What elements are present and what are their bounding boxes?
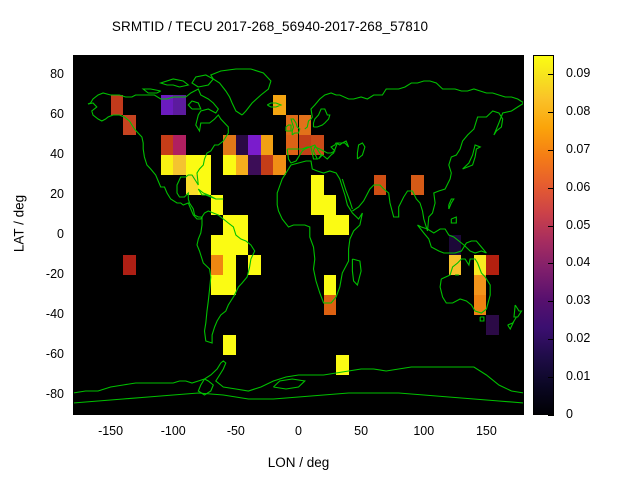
- coastline-overlay: [73, 55, 524, 415]
- coastline-path: [188, 101, 201, 109]
- y-tick-label: -40: [10, 307, 64, 321]
- coastline-path: [418, 225, 487, 253]
- colorbar-tick-label: 0.05: [566, 218, 590, 232]
- coastline-path: [291, 119, 300, 135]
- coastline-path: [273, 379, 304, 389]
- x-tick-mark: [236, 409, 237, 415]
- coastline-path: [73, 393, 524, 403]
- coastline-path: [463, 145, 481, 169]
- y-tick-mark: [73, 275, 79, 276]
- x-tick-mark: [111, 409, 112, 415]
- coastline-path: [192, 75, 213, 87]
- coastline-path: [451, 217, 456, 223]
- coastline-path: [440, 259, 490, 313]
- figure-root: SRMTID / TECU 2017-268_56940-2017-268_57…: [0, 0, 640, 480]
- colorbar-tick-label: 0: [566, 407, 573, 421]
- colorbar-tick-mark: [548, 188, 554, 189]
- colorbar-tick-mark: [548, 415, 554, 416]
- coastline-path: [88, 89, 228, 217]
- y-tick-label: -20: [10, 267, 64, 281]
- y-tick-label: 60: [10, 107, 64, 121]
- y-tick-mark: [73, 395, 79, 396]
- y-axis-label: LAT / deg: [12, 179, 27, 269]
- y-tick-mark: [73, 315, 79, 316]
- coastline-path: [286, 125, 291, 131]
- coastline-path: [287, 141, 348, 163]
- x-tick-mark: [361, 409, 362, 415]
- x-tick-label: 50: [331, 424, 391, 438]
- y-tick-label: -60: [10, 347, 64, 361]
- coastline-path: [480, 317, 484, 321]
- coastline-path: [314, 109, 330, 127]
- coastline-path: [352, 259, 361, 285]
- coastline-path: [88, 103, 202, 219]
- coastline-path: [305, 81, 524, 129]
- coastline-path: [352, 103, 524, 231]
- colorbar-tick-label: 0.01: [566, 369, 590, 383]
- coastline-path: [198, 189, 223, 199]
- y-tick-mark: [73, 355, 79, 356]
- y-tick-mark: [73, 195, 79, 196]
- colorbar-tick-mark: [548, 150, 554, 151]
- colorbar-tick-label: 0.06: [566, 180, 590, 194]
- colorbar-tick-label: 0.02: [566, 331, 590, 345]
- x-tick-mark: [486, 409, 487, 415]
- x-tick-mark: [299, 409, 300, 415]
- page-title: SRMTID / TECU 2017-268_56940-2017-268_57…: [0, 19, 540, 34]
- colorbar-tick-mark: [548, 377, 554, 378]
- x-tick-label: -100: [143, 424, 203, 438]
- x-tick-label: 150: [456, 424, 516, 438]
- y-tick-mark: [73, 75, 79, 76]
- coastline-path: [449, 199, 454, 209]
- colorbar-tick-label: 0.03: [566, 293, 590, 307]
- colorbar-tick-label: 0.07: [566, 142, 590, 156]
- x-tick-mark: [424, 409, 425, 415]
- x-tick-label: -150: [81, 424, 141, 438]
- y-tick-label: 80: [10, 67, 64, 81]
- colorbar[interactable]: [533, 55, 554, 415]
- colorbar-tick-label: 0.04: [566, 255, 590, 269]
- coastline-path: [73, 361, 524, 393]
- x-tick-label: 100: [394, 424, 454, 438]
- heatmap-plot-area[interactable]: [73, 55, 524, 415]
- colorbar-tick-mark: [548, 112, 554, 113]
- y-tick-mark: [73, 235, 79, 236]
- coastline-path: [508, 317, 517, 329]
- coastline-path: [161, 79, 189, 87]
- coastline-path: [357, 143, 365, 159]
- y-tick-mark: [73, 115, 79, 116]
- x-axis-label: LON / deg: [0, 455, 597, 470]
- coastline-path: [211, 69, 271, 115]
- coastline-path: [197, 211, 255, 343]
- colorbar-tick-mark: [548, 301, 554, 302]
- x-tick-label: 0: [269, 424, 329, 438]
- colorbar-tick-mark: [548, 74, 554, 75]
- y-tick-label: 40: [10, 147, 64, 161]
- colorbar-tick-label: 0.09: [566, 66, 590, 80]
- x-tick-mark: [173, 409, 174, 415]
- coastline-path: [277, 161, 362, 303]
- coastline-path: [198, 379, 213, 395]
- colorbar-tick-mark: [548, 263, 554, 264]
- colorbar-tick-mark: [548, 339, 554, 340]
- colorbar-tick-label: 0.08: [566, 104, 590, 118]
- coastline-path: [267, 103, 281, 107]
- coastline-path: [143, 89, 161, 93]
- x-tick-label: -50: [206, 424, 266, 438]
- colorbar-tick-mark: [548, 226, 554, 227]
- coastline-path: [514, 305, 522, 317]
- y-tick-mark: [73, 155, 79, 156]
- y-tick-label: -80: [10, 387, 64, 401]
